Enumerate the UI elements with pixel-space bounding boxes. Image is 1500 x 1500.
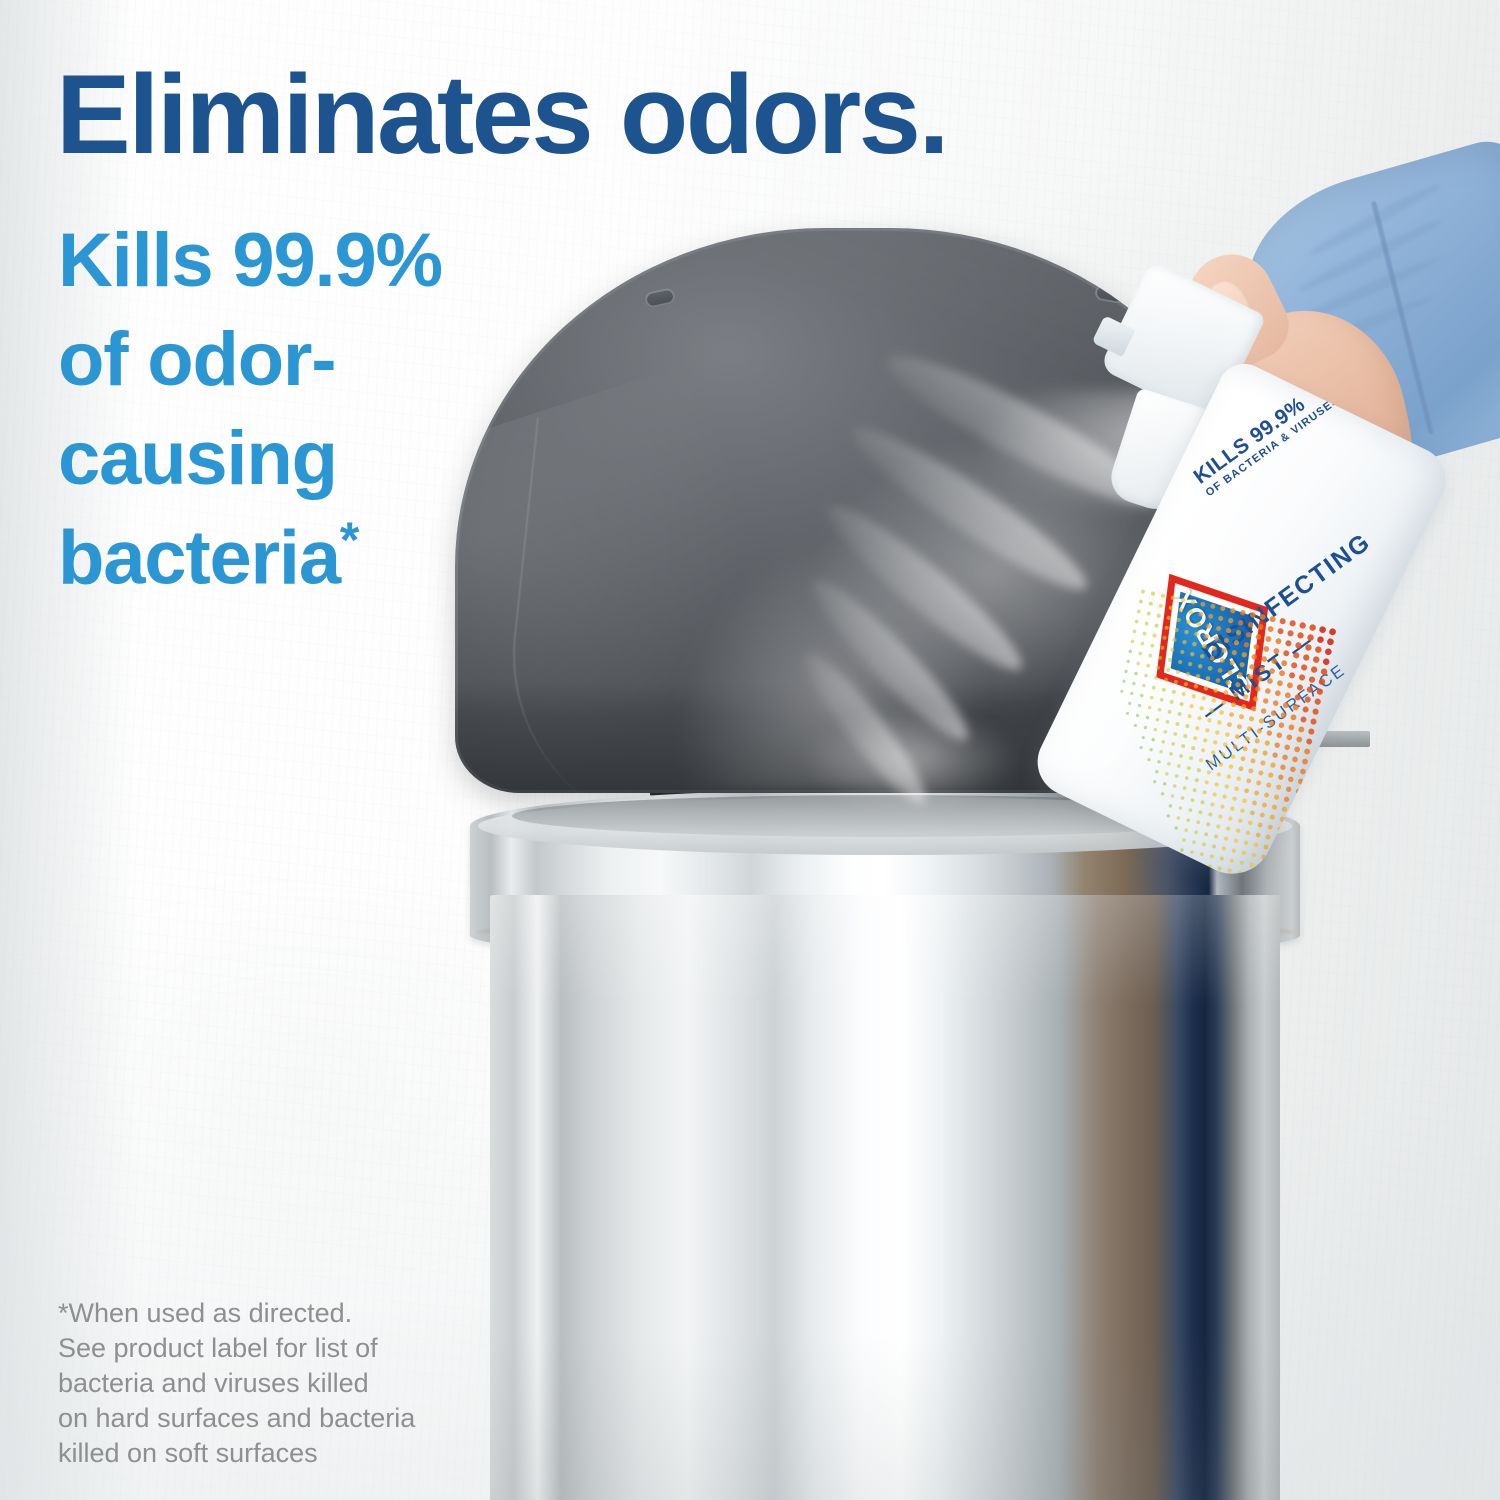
- trash-can-body-sheen: [490, 895, 1280, 1500]
- footnote-line-3: bacteria and viruses killed: [58, 1366, 415, 1401]
- subheadline-line-3: causing: [58, 410, 442, 509]
- subheadline-line-4: bacteria*: [58, 508, 442, 608]
- footnote-line-5: killed on soft surfaces: [58, 1436, 415, 1471]
- legal-footnote: *When used as directed. See product labe…: [58, 1296, 415, 1471]
- asterisk-marker: *: [340, 512, 358, 568]
- trash-can: [470, 775, 1300, 1500]
- page-title: Eliminates odors.: [56, 58, 947, 172]
- advertisement-canvas: KILLS 99.9% OF BACTERIA & VIRUSES CLOROX…: [0, 0, 1500, 1500]
- subheadline-line-4-text: bacteria: [58, 516, 340, 601]
- footnote-line-2: See product label for list of: [58, 1331, 415, 1366]
- subheadline-line-2: of odor-: [58, 311, 442, 410]
- subheadline-line-1: Kills 99.9%: [58, 212, 442, 311]
- footnote-line-1: *When used as directed.: [58, 1296, 415, 1331]
- subheadline: Kills 99.9% of odor- causing bacteria*: [58, 212, 442, 609]
- footnote-line-4: on hard surfaces and bacteria: [58, 1401, 415, 1436]
